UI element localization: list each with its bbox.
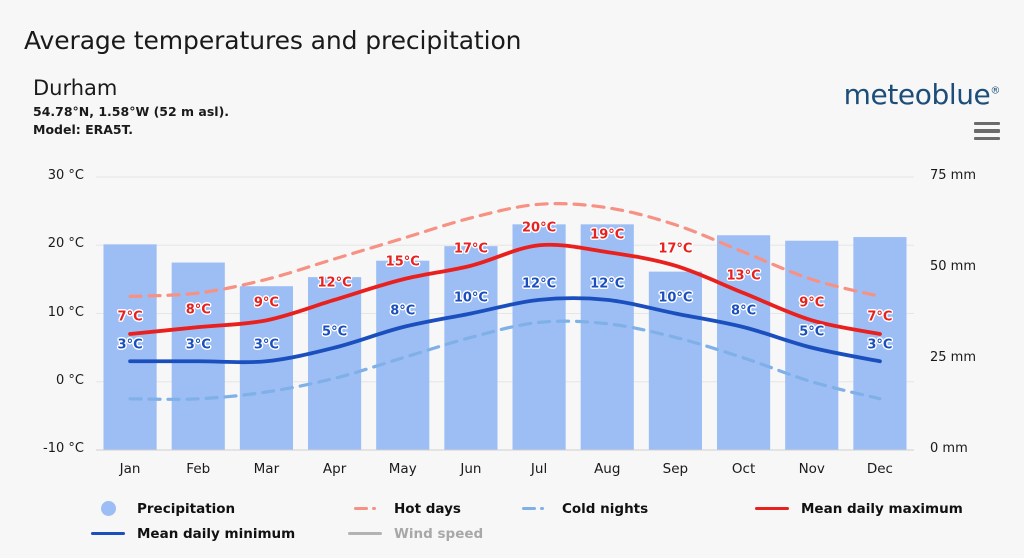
brand-text: meteoblue: [844, 78, 991, 111]
data-label-max: 7°C: [867, 309, 892, 324]
data-label-min: 12°C: [590, 276, 624, 291]
legend-dot-marker: [101, 501, 116, 516]
x-axis-label: Aug: [594, 461, 620, 477]
legend-label: Precipitation: [137, 501, 235, 517]
y-axis-left-tick: 20 °C: [0, 236, 84, 251]
x-axis-label: Oct: [732, 461, 755, 477]
legend-item-precipitation[interactable]: Precipitation: [88, 501, 235, 517]
legend-label: Wind speed: [394, 526, 483, 542]
data-label-max: 9°C: [799, 296, 824, 311]
legend-item-cold-nights[interactable]: Cold nights: [513, 501, 648, 517]
data-label-max: 9°C: [254, 296, 279, 311]
data-label-max: 15°C: [386, 255, 420, 270]
x-axis-label: Nov: [799, 461, 825, 477]
legend-row-bottom: Mean daily minimumWind speed: [88, 521, 988, 546]
page-title: Average temperatures and precipitation: [24, 26, 521, 55]
y-axis-right-tick: 50 mm: [930, 259, 976, 274]
precipitation-bar[interactable]: [308, 277, 361, 450]
legend-label: Mean daily minimum: [137, 526, 295, 542]
data-label-min: 12°C: [522, 276, 556, 291]
trademark-symbol: ®: [990, 86, 1000, 97]
legend-item-hot-days[interactable]: Hot days: [345, 501, 461, 517]
legend-dashdot-marker: [354, 507, 376, 510]
data-label-min: 10°C: [454, 290, 488, 305]
legend-line-marker: [755, 507, 789, 511]
data-label-min: 10°C: [658, 290, 692, 305]
precipitation-bar[interactable]: [717, 235, 770, 450]
data-label-min: 5°C: [322, 324, 347, 339]
legend-label: Mean daily maximum: [801, 501, 963, 517]
y-axis-left-tick: 0 °C: [0, 373, 84, 388]
precipitation-bar[interactable]: [444, 246, 497, 450]
data-label-max: 12°C: [318, 275, 352, 290]
data-label-min: 8°C: [731, 304, 756, 319]
data-label-min: 3°C: [254, 338, 279, 353]
hamburger-menu-icon[interactable]: [974, 120, 1000, 140]
data-label-max: 20°C: [522, 221, 556, 236]
x-axis-label: Mar: [254, 461, 279, 477]
x-axis-label: Feb: [186, 461, 210, 477]
data-label-min: 5°C: [799, 324, 824, 339]
legend-item-mean-daily-maximum[interactable]: Mean daily maximum: [752, 501, 963, 517]
data-label-min: 3°C: [118, 338, 143, 353]
y-axis-right-tick: 75 mm: [930, 168, 976, 183]
legend-row-top: PrecipitationHot daysCold nightsMean dai…: [88, 496, 988, 521]
climate-chart-card: Average temperatures and precipitation D…: [0, 0, 1024, 558]
location-coordinates: 54.78°N, 1.58°W (52 m asl).: [33, 104, 229, 119]
data-label-max: 13°C: [727, 269, 761, 284]
data-label-min: 8°C: [390, 304, 415, 319]
chart-svg: [96, 177, 914, 450]
precipitation-bar[interactable]: [512, 224, 565, 450]
legend-line-marker: [91, 532, 125, 536]
legend-dashdot-marker: [522, 507, 544, 510]
x-axis-label: Jul: [531, 461, 547, 477]
chart-plot-area: [96, 177, 914, 450]
y-axis-left-tick: -10 °C: [0, 441, 84, 456]
legend-item-mean-daily-minimum[interactable]: Mean daily minimum: [88, 526, 295, 542]
y-axis-right-tick: 0 mm: [930, 441, 968, 456]
data-label-max: 7°C: [118, 309, 143, 324]
x-axis-label: Dec: [867, 461, 893, 477]
legend-line-marker: [348, 532, 382, 536]
legend-label: Cold nights: [562, 501, 648, 517]
x-axis-label: Sep: [663, 461, 688, 477]
x-axis-label: May: [389, 461, 417, 477]
location-name: Durham: [33, 76, 117, 100]
y-axis-left-tick: 30 °C: [0, 168, 84, 183]
model-name: Model: ERA5T.: [33, 122, 133, 137]
data-label-min: 3°C: [867, 338, 892, 353]
legend-item-wind-speed[interactable]: Wind speed: [345, 526, 483, 542]
data-label-max: 17°C: [454, 241, 488, 256]
legend-label: Hot days: [394, 501, 461, 517]
precipitation-bars: [103, 224, 906, 450]
data-label-min: 3°C: [186, 338, 211, 353]
y-axis-right-tick: 25 mm: [930, 350, 976, 365]
chart-legend: PrecipitationHot daysCold nightsMean dai…: [88, 496, 988, 546]
precipitation-bar[interactable]: [581, 224, 634, 450]
data-label-max: 8°C: [186, 303, 211, 318]
y-axis-left-tick: 10 °C: [0, 305, 84, 320]
data-label-max: 19°C: [590, 228, 624, 243]
meteoblue-logo[interactable]: meteoblue®: [844, 78, 1000, 111]
x-axis-label: Apr: [323, 461, 346, 477]
x-axis-label: Jan: [120, 461, 141, 477]
precipitation-bar[interactable]: [376, 261, 429, 450]
data-label-max: 17°C: [658, 241, 692, 256]
x-axis-label: Jun: [460, 461, 481, 477]
